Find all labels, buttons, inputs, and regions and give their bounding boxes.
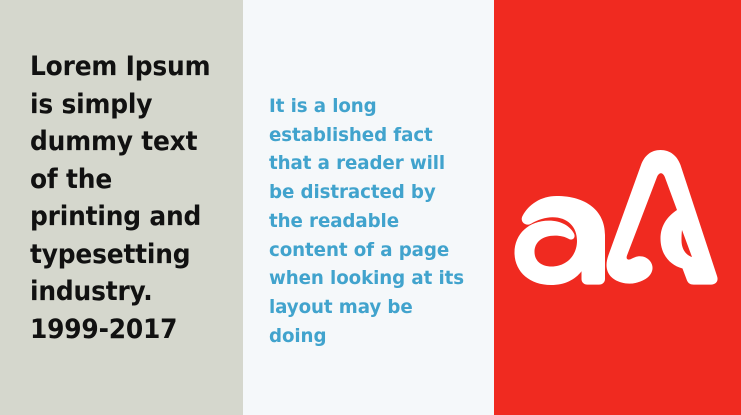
- glyph-pair-aA: [510, 132, 725, 302]
- glyph-panel: aA: [494, 0, 741, 415]
- paragraph-sample-text: It is a long established fact that a rea…: [269, 92, 472, 350]
- heading-sample-text: Lorem Ipsum is simply dummy text of the …: [30, 48, 215, 348]
- glyph-lowercase-a: [515, 196, 606, 285]
- paragraph-panel: It is a long established fact that a rea…: [243, 0, 494, 415]
- glyph-stage: aA: [510, 132, 725, 302]
- glyph-uppercase-a: [607, 150, 718, 285]
- heading-panel: Lorem Ipsum is simply dummy text of the …: [0, 0, 243, 415]
- font-specimen-card: Lorem Ipsum is simply dummy text of the …: [0, 0, 741, 415]
